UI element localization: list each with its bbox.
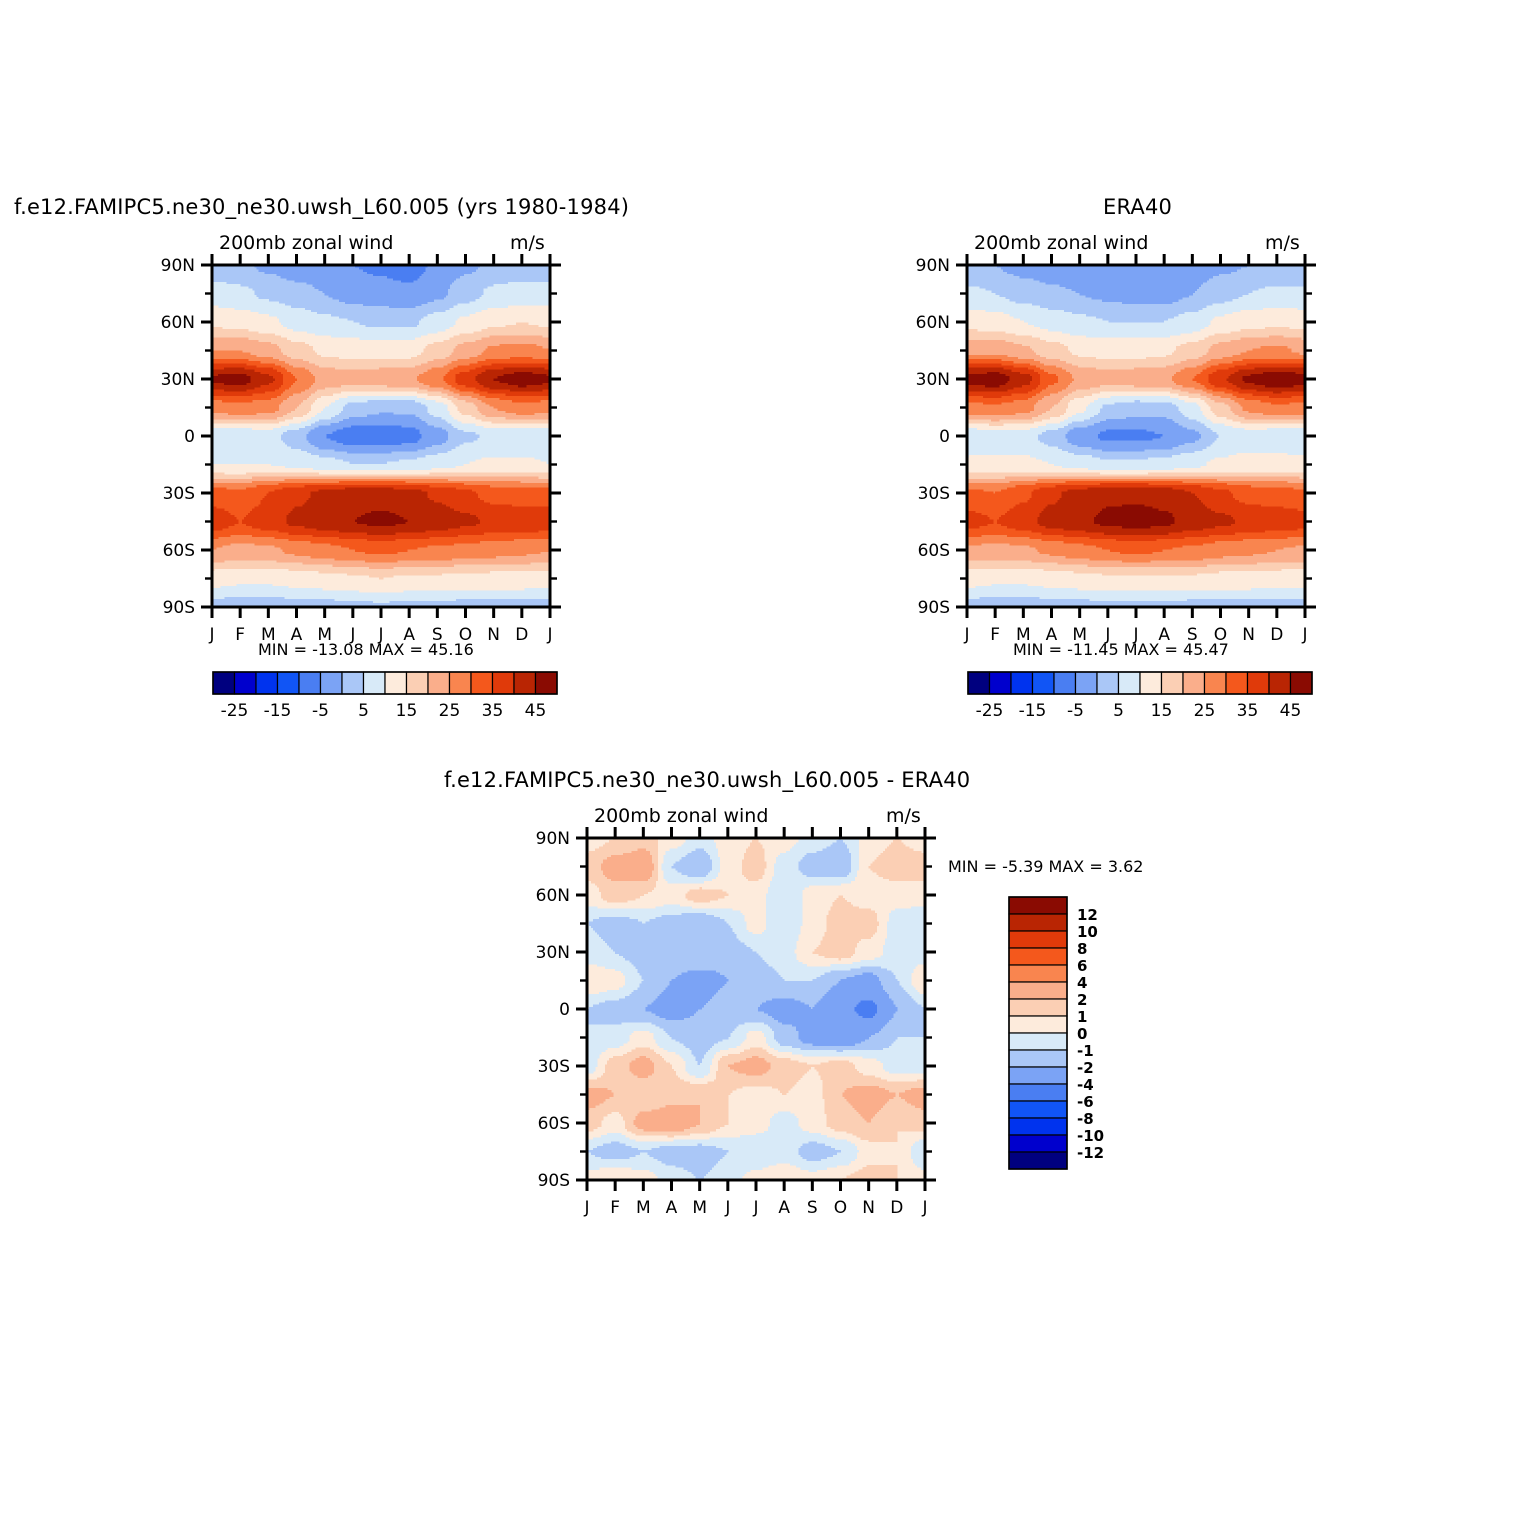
- colorbar-cell: [514, 672, 536, 694]
- x-tick-label: S: [807, 1198, 818, 1218]
- colorbar-cell: [1269, 672, 1291, 694]
- colorbar-cell: [1009, 1118, 1067, 1135]
- colorbar-tick-label: -8: [1077, 1110, 1094, 1128]
- panel-model-minmax: MIN = -13.08 MAX = 45.16: [258, 640, 474, 659]
- x-tick-label: J: [963, 625, 969, 645]
- y-tick-label: 90S: [163, 598, 195, 618]
- x-tick-label: J: [752, 1198, 758, 1218]
- y-tick-label: 30N: [161, 370, 195, 390]
- colorbar-cell: [1226, 672, 1248, 694]
- colorbar-cell: [493, 672, 515, 694]
- colorbar-cell: [321, 672, 343, 694]
- colorbar-tick-label: -25: [976, 701, 1004, 721]
- panel-model-plot[interactable]: 90N60N30N030S60S90SJFMAMJJASONDJ: [130, 250, 550, 650]
- colorbar-tick-label: 4: [1077, 974, 1087, 992]
- colorbar-cell: [1291, 672, 1313, 694]
- y-tick-label: 30S: [538, 1057, 570, 1077]
- x-tick-label: J: [1301, 625, 1307, 645]
- y-tick-label: 60S: [163, 541, 195, 561]
- x-tick-label: A: [778, 1198, 790, 1218]
- colorbar-cell: [1009, 948, 1067, 965]
- colorbar-cell: [1009, 897, 1067, 914]
- colorbar-tick-label: -25: [221, 701, 249, 721]
- colorbar-cell: [1183, 672, 1205, 694]
- colorbar-cell: [299, 672, 321, 694]
- colorbar-tick-label: -5: [1067, 701, 1084, 721]
- colorbar-cell: [1205, 672, 1227, 694]
- colorbar-cell: [1009, 1050, 1067, 1067]
- x-tick-label: N: [862, 1198, 875, 1218]
- colorbar-cell: [1054, 672, 1076, 694]
- x-tick-label: A: [666, 1198, 678, 1218]
- colorbar-cell: [968, 672, 990, 694]
- colorbar-cell: [1009, 982, 1067, 999]
- panel-obs-plot[interactable]: 90N60N30N030S60S90SJFMAMJJASONDJ: [885, 250, 1305, 650]
- colorbar-tick-label: 10: [1077, 923, 1098, 941]
- colorbar-cell: [407, 672, 429, 694]
- colorbar-cell: [1011, 672, 1033, 694]
- colorbar-tick-label: 8: [1077, 940, 1087, 958]
- colorbar-cell: [342, 672, 364, 694]
- x-tick-label: D: [890, 1198, 903, 1218]
- colorbar-cell: [1076, 672, 1098, 694]
- x-tick-label: J: [583, 1198, 589, 1218]
- colorbar-cell: [1009, 1084, 1067, 1101]
- colorbar-tick-label: 25: [1194, 701, 1216, 721]
- panel-difference-title: f.e12.FAMIPC5.ne30_ne30.uwsh_L60.005 - E…: [444, 768, 970, 792]
- colorbar-cell: [213, 672, 235, 694]
- colorbar-tick-label: 5: [1113, 701, 1124, 721]
- y-tick-label: 90S: [538, 1171, 570, 1191]
- x-tick-label: M: [692, 1198, 707, 1218]
- colorbar-tick-label: -6: [1077, 1093, 1094, 1111]
- colorbar-tick-label: 15: [396, 701, 418, 721]
- colorbar-cell: [1009, 1135, 1067, 1152]
- colorbar-tick-label: 0: [1077, 1025, 1087, 1043]
- colorbar-cell: [1009, 1016, 1067, 1033]
- y-tick-label: 0: [559, 1000, 570, 1020]
- colorbar-tick-label: 45: [1280, 701, 1302, 721]
- colorbar-cell: [1009, 999, 1067, 1016]
- colorbar-tick-label: -10: [1077, 1127, 1104, 1145]
- colorbar-tick-label: 35: [482, 701, 504, 721]
- colorbar-cell: [1140, 672, 1162, 694]
- colorbar-cell: [256, 672, 278, 694]
- colorbar-tick-label: -1: [1077, 1042, 1094, 1060]
- y-tick-label: 90N: [161, 256, 195, 276]
- colorbar-cell: [1009, 965, 1067, 982]
- y-tick-label: 0: [939, 427, 950, 447]
- colorbar-tick-label: -5: [312, 701, 329, 721]
- x-tick-label: N: [1242, 625, 1255, 645]
- colorbar-tick-label: 15: [1151, 701, 1173, 721]
- x-tick-label: J: [921, 1198, 927, 1218]
- colorbar-tick-label: 5: [358, 701, 369, 721]
- colorbar-absolute-model[interactable]: -25-15-5515253545: [205, 670, 565, 720]
- y-tick-label: 30N: [916, 370, 950, 390]
- y-tick-label: 30N: [536, 943, 570, 963]
- colorbar-tick-label: 45: [525, 701, 547, 721]
- y-tick-label: 60S: [918, 541, 950, 561]
- colorbar-cell: [428, 672, 450, 694]
- colorbar-cell: [364, 672, 386, 694]
- colorbar-cell: [536, 672, 558, 694]
- x-tick-label: M: [636, 1198, 651, 1218]
- colorbar-cell: [278, 672, 300, 694]
- x-tick-label: J: [724, 1198, 730, 1218]
- y-tick-label: 0: [184, 427, 195, 447]
- colorbar-tick-label: 35: [1237, 701, 1259, 721]
- x-tick-label: F: [990, 625, 1000, 645]
- colorbar-difference[interactable]: 1210864210-1-2-4-6-8-10-12: [1005, 893, 1195, 1183]
- colorbar-tick-label: 6: [1077, 957, 1087, 975]
- colorbar-tick-label: 12: [1077, 906, 1098, 924]
- panel-obs-minmax: MIN = -11.45 MAX = 45.47: [1013, 640, 1229, 659]
- colorbar-tick-label: 25: [439, 701, 461, 721]
- colorbar-tick-label: -2: [1077, 1059, 1094, 1077]
- panel-difference-minmax: MIN = -5.39 MAX = 3.62: [948, 857, 1143, 876]
- panel-difference-plot[interactable]: 90N60N30N030S60S90SJFMAMJJASONDJ: [505, 823, 925, 1223]
- colorbar-cell: [385, 672, 407, 694]
- x-tick-label: J: [546, 625, 552, 645]
- panel-model-title: f.e12.FAMIPC5.ne30_ne30.uwsh_L60.005 (yr…: [14, 195, 629, 219]
- y-tick-label: 30S: [918, 484, 950, 504]
- colorbar-cell: [1162, 672, 1184, 694]
- y-tick-label: 60N: [916, 313, 950, 333]
- y-tick-label: 60S: [538, 1114, 570, 1134]
- colorbar-cell: [471, 672, 493, 694]
- y-tick-label: 90N: [536, 829, 570, 849]
- colorbar-cell: [1009, 914, 1067, 931]
- colorbar-tick-label: 1: [1077, 1008, 1087, 1026]
- x-tick-label: F: [235, 625, 245, 645]
- colorbar-tick-label: -12: [1077, 1144, 1104, 1162]
- colorbar-cell: [1009, 1152, 1067, 1169]
- x-tick-label: N: [487, 625, 500, 645]
- colorbar-cell: [235, 672, 257, 694]
- colorbar-tick-label: -15: [1019, 701, 1047, 721]
- colorbar-cell: [1248, 672, 1270, 694]
- colorbar-tick-label: 2: [1077, 991, 1087, 1009]
- colorbar-cell: [1009, 1101, 1067, 1118]
- colorbar-cell: [1009, 1033, 1067, 1050]
- colorbar-cell: [1097, 672, 1119, 694]
- y-tick-label: 60N: [161, 313, 195, 333]
- x-tick-label: D: [515, 625, 528, 645]
- y-tick-label: 90N: [916, 256, 950, 276]
- colorbar-cell: [990, 672, 1012, 694]
- x-tick-label: J: [208, 625, 214, 645]
- colorbar-tick-label: -15: [264, 701, 292, 721]
- y-tick-label: 60N: [536, 886, 570, 906]
- y-tick-label: 30S: [163, 484, 195, 504]
- colorbar-cell: [1033, 672, 1055, 694]
- x-tick-label: D: [1270, 625, 1283, 645]
- x-tick-label: O: [834, 1198, 847, 1218]
- colorbar-cell: [450, 672, 472, 694]
- colorbar-cell: [1119, 672, 1141, 694]
- y-tick-label: 90S: [918, 598, 950, 618]
- colorbar-absolute-obs[interactable]: -25-15-5515253545: [960, 670, 1320, 720]
- panel-obs-title: ERA40: [1103, 195, 1172, 219]
- x-tick-label: F: [610, 1198, 620, 1218]
- colorbar-tick-label: -4: [1077, 1076, 1094, 1094]
- colorbar-cell: [1009, 1067, 1067, 1084]
- colorbar-cell: [1009, 931, 1067, 948]
